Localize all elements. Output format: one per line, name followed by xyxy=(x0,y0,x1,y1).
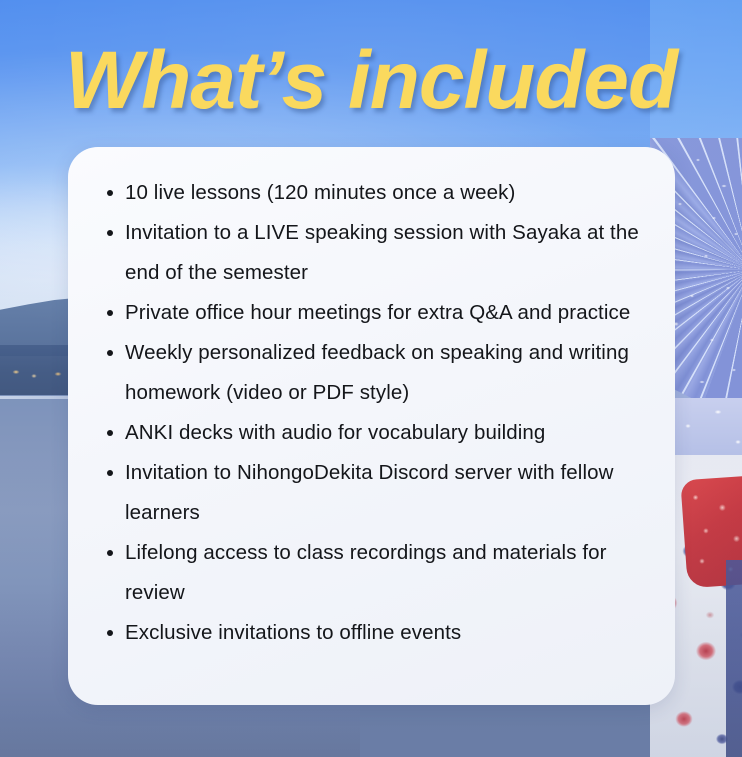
list-item: Exclusive invitations to offline events xyxy=(88,613,641,653)
list-item: 10 live lessons (120 minutes once a week… xyxy=(88,173,641,213)
list-item: Invitation to NihongoDekita Discord serv… xyxy=(88,453,641,533)
poster-canvas: What’s included 10 live lessons (120 min… xyxy=(0,0,742,757)
list-item: Invitation to a LIVE speaking session wi… xyxy=(88,213,641,293)
list-item: ANKI decks with audio for vocabulary bui… xyxy=(88,413,641,453)
page-title: What’s included xyxy=(0,40,742,122)
list-item: Lifelong access to class recordings and … xyxy=(88,533,641,613)
yukata-indigo-edge xyxy=(726,560,742,757)
list-item: Weekly personalized feedback on speaking… xyxy=(88,333,641,413)
features-list: 10 live lessons (120 minutes once a week… xyxy=(88,173,641,653)
list-item: Private office hour meetings for extra Q… xyxy=(88,293,641,333)
included-features-card: 10 live lessons (120 minutes once a week… xyxy=(68,147,675,705)
